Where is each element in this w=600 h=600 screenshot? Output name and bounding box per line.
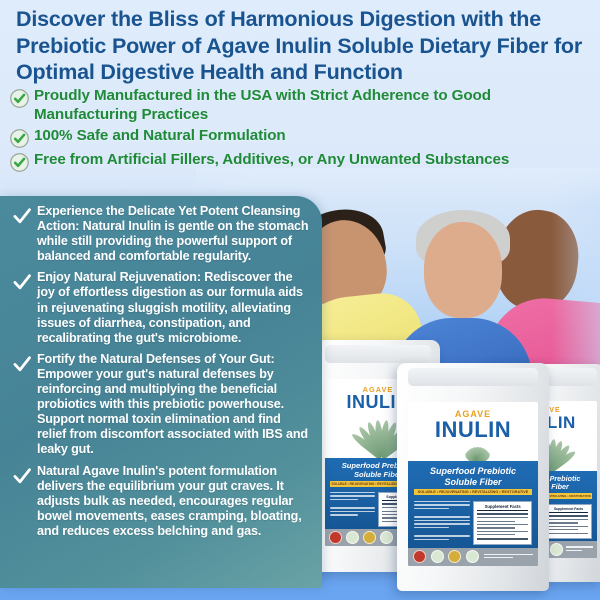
check-circle-icon — [10, 153, 29, 172]
check-icon — [12, 354, 32, 374]
label-description-text — [414, 501, 470, 545]
label-footer-text — [484, 554, 533, 560]
gmp-badge-icon — [431, 550, 444, 563]
label-brand-inulin: INULIN — [408, 419, 539, 441]
claim-text: Free from Artificial Fillers, Additives,… — [34, 151, 509, 170]
product-marketing-poster: Discover the Bliss of Harmonious Digesti… — [0, 0, 600, 600]
agave-plant-illustration — [408, 445, 539, 461]
benefit-text: Fortify the Natural Defenses of Your Gut… — [37, 352, 312, 458]
benefit-body: Natural Agave Inulin's potent formulatio… — [37, 464, 302, 538]
product-label: AGAVE INULIN Superfood Prebiotic Soluble… — [408, 402, 539, 566]
benefit-text: Enjoy Natural Rejuvenation: Rediscover t… — [37, 270, 312, 345]
benefit-text: Experience the Delicate Yet Potent Clean… — [37, 204, 312, 264]
label-tagline: Superfood Prebiotic Soluble Fiber — [408, 461, 539, 490]
list-item: Fortify the Natural Defenses of Your Gut… — [12, 352, 312, 458]
check-icon — [12, 466, 32, 486]
page-title: Discover the Bliss of Harmonious Digesti… — [16, 6, 588, 86]
check-circle-icon — [10, 129, 29, 148]
benefits-list: Experience the Delicate Yet Potent Clean… — [12, 204, 312, 545]
list-item: Proudly Manufactured in the USA with Str… — [10, 87, 595, 124]
list-item: Experience the Delicate Yet Potent Clean… — [12, 204, 312, 264]
supplement-facts-panel: Supplement Facts — [545, 504, 591, 539]
benefit-lead: Fortify the Natural Defenses of Your Gut… — [37, 352, 275, 366]
non-gmo-badge-icon — [448, 550, 461, 563]
bag-top-seal — [408, 368, 539, 386]
label-brand: AGAVE INULIN — [408, 402, 539, 441]
certification-badges — [408, 548, 539, 566]
product-bag-front: AGAVE INULIN Superfood Prebiotic Soluble… — [397, 363, 549, 591]
benefit-text: Natural Agave Inulin's potent formulatio… — [37, 464, 312, 539]
natural-badge-icon — [380, 531, 393, 544]
benefit-body: Empower your gut's natural defenses by r… — [37, 367, 308, 456]
check-icon — [12, 206, 32, 226]
non-gmo-badge-icon — [363, 531, 376, 544]
label-columns: Supplement Facts — [408, 495, 539, 547]
list-item: 100% Safe and Natural Formulation — [10, 127, 595, 148]
list-item: Natural Agave Inulin's potent formulatio… — [12, 464, 312, 539]
trust-claims-list: Proudly Manufactured in the USA with Str… — [10, 87, 595, 175]
claim-text: Proudly Manufactured in the USA with Str… — [34, 87, 595, 124]
supplement-facts-panel: Supplement Facts — [473, 501, 531, 545]
claim-text: 100% Safe and Natural Formulation — [34, 127, 286, 146]
gmp-badge-icon — [346, 531, 359, 544]
natural-badge-icon — [466, 550, 479, 563]
benefits-panel: Experience the Delicate Yet Potent Clean… — [0, 196, 322, 588]
check-icon — [12, 272, 32, 292]
bag-top-seal — [325, 345, 432, 364]
usa-badge-icon — [329, 531, 342, 544]
label-description-text — [330, 492, 375, 527]
check-circle-icon — [10, 89, 29, 108]
benefit-lead: Enjoy Natural Rejuvenation: — [37, 270, 201, 284]
label-footer-text — [566, 546, 592, 552]
list-item: Enjoy Natural Rejuvenation: Rediscover t… — [12, 270, 312, 345]
natural-badge-icon — [550, 543, 563, 556]
label-blue-area: Superfood Prebiotic Soluble Fiber SOLUBL… — [408, 461, 539, 566]
usa-badge-icon — [413, 550, 426, 563]
